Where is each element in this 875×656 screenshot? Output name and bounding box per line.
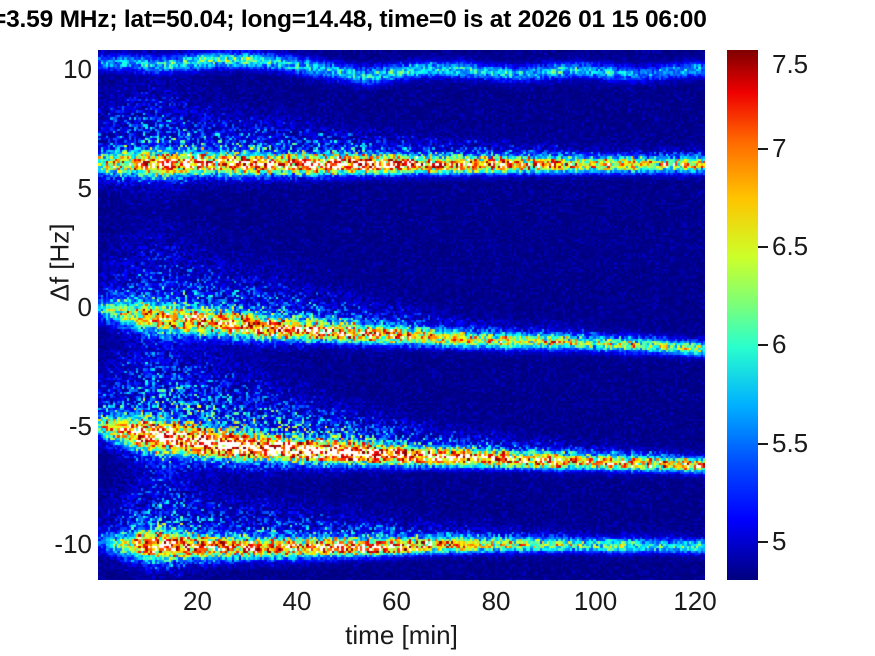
y-tick-label: 10 (30, 56, 92, 82)
colorbar-tick-label: 6 (772, 331, 786, 357)
colorbar-tick-label: 5.5 (772, 430, 808, 456)
y-tick-label: -5 (30, 413, 92, 439)
spectrogram-image (98, 50, 705, 580)
y-tick-label: -10 (30, 531, 92, 557)
colorbar-tick-mark (758, 443, 768, 445)
x-tick-label: 20 (183, 588, 212, 614)
colorbar-tick-mark (758, 344, 768, 346)
colorbar-ticks: 55.566.577.5 (727, 50, 867, 580)
spectrogram-axes[interactable] (98, 50, 705, 580)
x-axis-label: time [min] (98, 620, 705, 651)
colorbar-tick-label: 6.5 (772, 233, 808, 259)
colorbar-tick-label: 7.5 (772, 51, 808, 77)
figure-root: =3.59 MHz; lat=50.04; long=14.48, time=0… (0, 0, 875, 656)
y-axis-label: Δf [Hz] (45, 183, 76, 343)
colorbar-tick-label: 5 (772, 528, 786, 554)
figure-title: =3.59 MHz; lat=50.04; long=14.48, time=0… (0, 6, 875, 34)
x-tick-label: 80 (482, 588, 511, 614)
colorbar-tick-mark (758, 148, 768, 150)
x-tick-label: 120 (673, 588, 716, 614)
x-tick-label: 40 (283, 588, 312, 614)
x-tick-label: 100 (574, 588, 617, 614)
colorbar-tick-mark (758, 541, 768, 543)
x-tick-label: 60 (382, 588, 411, 614)
colorbar-tick-mark (758, 246, 768, 248)
colorbar-tick-label: 7 (772, 135, 786, 161)
